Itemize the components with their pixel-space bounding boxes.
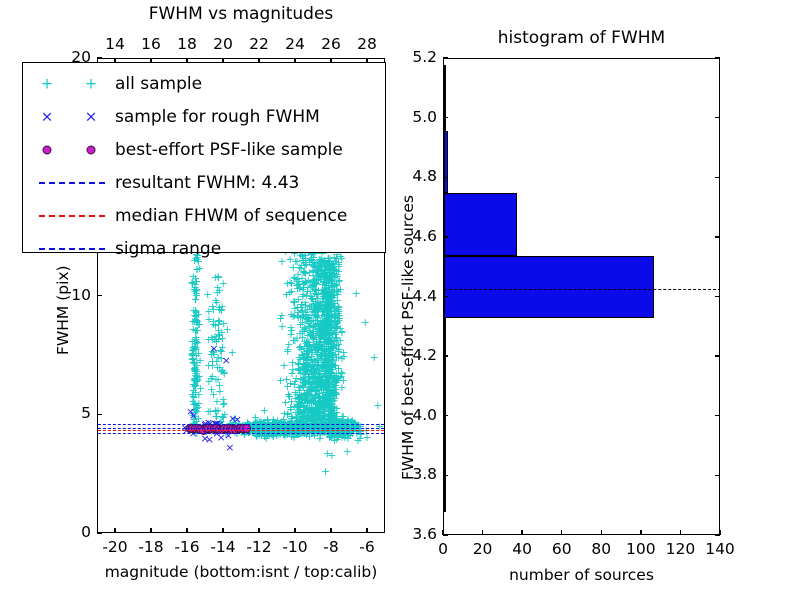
plus-icon: + bbox=[41, 76, 54, 91]
scatter-point-all-sample: + bbox=[286, 378, 295, 389]
histogram-resultant-fwhm-line bbox=[444, 289, 719, 290]
scatter-point-all-sample: + bbox=[215, 285, 224, 296]
scatter-point-all-sample: + bbox=[190, 336, 199, 347]
scatter-point-all-sample: + bbox=[320, 346, 329, 357]
y-tick-right bbox=[715, 475, 720, 476]
scatter-point-rough-sample: × bbox=[225, 442, 234, 453]
x-tick bbox=[601, 530, 602, 535]
x-tick bbox=[640, 530, 641, 535]
legend-marker-cell bbox=[29, 232, 115, 265]
x-tick-label: 120 bbox=[658, 540, 702, 558]
circle-marker-icon bbox=[87, 145, 96, 154]
y-tick-left bbox=[443, 57, 448, 58]
y-tick-right bbox=[715, 177, 720, 178]
y-tick-left bbox=[443, 534, 448, 535]
x-tick-label: 60 bbox=[540, 540, 584, 558]
histogram-plot-area bbox=[444, 59, 719, 534]
scatter-point-all-sample: + bbox=[328, 385, 337, 396]
scatter-point-all-sample: + bbox=[330, 301, 339, 312]
scatter-point-all-sample: + bbox=[189, 271, 198, 282]
scatter-point-all-sample: + bbox=[301, 277, 310, 288]
scatter-point-all-sample: + bbox=[214, 272, 223, 283]
legend-label: best-effort PSF-like sample bbox=[115, 140, 343, 160]
scatter-point-all-sample: + bbox=[373, 400, 382, 411]
cross-icon: × bbox=[41, 109, 54, 124]
legend-entry: resultant FWHM: 4.43 bbox=[29, 166, 385, 199]
y-tick-right bbox=[715, 296, 720, 297]
histogram-axes bbox=[443, 58, 720, 535]
x-tick-bottom bbox=[222, 528, 223, 533]
x-tick-label: 20 bbox=[461, 540, 505, 558]
y-tick bbox=[97, 532, 102, 533]
legend-label: sample for rough FWHM bbox=[115, 107, 320, 127]
x-tick-bottom bbox=[150, 528, 151, 533]
scatter-point-all-sample: + bbox=[343, 446, 352, 457]
scatter-point-all-sample: + bbox=[315, 433, 324, 444]
sigma-range-lower-line bbox=[98, 433, 384, 434]
x-tick bbox=[482, 530, 483, 535]
histogram-ylabel: FWHM of best-effort PSF-like sources bbox=[399, 195, 417, 480]
scatter-point-all-sample: + bbox=[260, 405, 269, 416]
legend-marker-cell bbox=[29, 133, 115, 166]
scatter-point-all-sample: + bbox=[330, 265, 339, 276]
y-tick-left bbox=[443, 415, 448, 416]
scatter-point-all-sample: + bbox=[215, 316, 224, 327]
legend-entry: median FHWM of sequence bbox=[29, 199, 385, 232]
scatter-point-all-sample: + bbox=[302, 359, 311, 370]
y-tick-right bbox=[715, 117, 720, 118]
scatter-point-all-sample: + bbox=[320, 286, 329, 297]
circle-marker-icon bbox=[43, 145, 52, 154]
y-tick-right bbox=[715, 355, 720, 356]
histogram-xlabel: number of sources bbox=[443, 566, 720, 584]
histogram-bar bbox=[444, 256, 654, 319]
y-tick-left bbox=[443, 355, 448, 356]
y-tick-label: 5.0 bbox=[391, 108, 437, 126]
scatter-point-rough-sample: × bbox=[222, 355, 231, 366]
y-tick-right bbox=[715, 236, 720, 237]
legend-marker-cell bbox=[29, 166, 115, 199]
dashdot-line-icon bbox=[39, 248, 105, 250]
legend-entry: ++all sample bbox=[29, 67, 385, 100]
scatter-point-all-sample: + bbox=[204, 314, 213, 325]
figure-canvas: FWHM vs magnitudes +++++++++++++++++++++… bbox=[0, 0, 800, 600]
x-tick-label-bottom: -6 bbox=[345, 538, 389, 556]
legend-marker-cell: ×× bbox=[29, 100, 115, 133]
x-tick-label: 140 bbox=[698, 540, 742, 558]
scatter-ylabel: FWHM (pix) bbox=[54, 265, 72, 355]
scatter-point-all-sample: + bbox=[332, 333, 341, 344]
scatter-point-all-sample: + bbox=[327, 450, 336, 461]
legend-entry: ××sample for rough FWHM bbox=[29, 100, 385, 133]
x-tick bbox=[521, 530, 522, 535]
cross-icon: × bbox=[85, 109, 98, 124]
histogram-bar bbox=[444, 447, 446, 513]
legend-marker-cell bbox=[29, 199, 115, 232]
y-tick-left bbox=[443, 296, 448, 297]
scatter-point-all-sample: + bbox=[276, 313, 285, 324]
x-tick-bottom bbox=[366, 528, 367, 533]
x-tick-bottom bbox=[294, 528, 295, 533]
scatter-point-all-sample: + bbox=[370, 352, 379, 363]
sigma-range-upper-line bbox=[98, 424, 384, 425]
y-tick-left bbox=[443, 475, 448, 476]
x-tick bbox=[680, 530, 681, 535]
scatter-point-all-sample: + bbox=[296, 302, 305, 313]
histogram-bar bbox=[444, 193, 517, 256]
right-panel-title: histogram of FWHM bbox=[443, 28, 720, 48]
plus-icon: + bbox=[85, 76, 98, 91]
histogram-bar bbox=[444, 65, 446, 131]
y-tick-right bbox=[715, 534, 720, 535]
legend-marker-cell: ++ bbox=[29, 67, 115, 100]
y-tick-left bbox=[443, 177, 448, 178]
scatter-point-all-sample: + bbox=[219, 394, 228, 405]
scatter-point-all-sample: + bbox=[251, 412, 260, 423]
y-tick-label: 4.8 bbox=[391, 167, 437, 185]
y-tick-label: 5.2 bbox=[391, 48, 437, 66]
x-tick-bottom bbox=[186, 528, 187, 533]
scatter-point-all-sample: + bbox=[190, 310, 199, 321]
y-tick-right bbox=[715, 415, 720, 416]
legend: ++all sample××sample for rough FWHMbest-… bbox=[22, 62, 386, 253]
x-tick-bottom bbox=[330, 528, 331, 533]
legend-label: median FHWM of sequence bbox=[115, 206, 347, 226]
scatter-point-all-sample: + bbox=[295, 396, 304, 407]
scatter-point-rough-sample: × bbox=[209, 343, 218, 354]
scatter-point-rough-sample: × bbox=[189, 410, 198, 421]
x-tick bbox=[561, 530, 562, 535]
dashed-line-icon bbox=[39, 182, 105, 184]
scatter-point-all-sample: + bbox=[212, 297, 221, 308]
scatter-point-all-sample: + bbox=[285, 277, 294, 288]
scatter-point-all-sample: + bbox=[331, 360, 340, 371]
y-tick-label: 5 bbox=[55, 404, 91, 422]
scatter-point-all-sample: + bbox=[302, 323, 311, 334]
scatter-point-all-sample: + bbox=[190, 381, 199, 392]
x-tick-bottom bbox=[114, 528, 115, 533]
dashed-line-icon bbox=[39, 215, 105, 217]
x-tick-label: 100 bbox=[619, 540, 663, 558]
legend-entry: sigma range bbox=[29, 232, 385, 265]
scatter-point-all-sample: + bbox=[314, 302, 323, 313]
scatter-point-all-sample: + bbox=[209, 389, 218, 400]
y-tick-left bbox=[443, 117, 448, 118]
histogram-bar bbox=[444, 318, 446, 384]
y-tick-left bbox=[443, 236, 448, 237]
y-tick bbox=[97, 57, 102, 58]
scatter-point-all-sample: + bbox=[353, 435, 362, 446]
x-tick-label: 80 bbox=[579, 540, 623, 558]
scatter-point-all-sample: + bbox=[279, 360, 288, 371]
y-tick-right bbox=[715, 57, 720, 58]
y-tick bbox=[97, 414, 102, 415]
legend-entry: best-effort PSF-like sample bbox=[29, 133, 385, 166]
scatter-point-all-sample: + bbox=[352, 288, 361, 299]
scatter-point-all-sample: + bbox=[323, 372, 332, 383]
left-panel-title: FWHM vs magnitudes bbox=[97, 4, 385, 24]
y-tick-label: 3.6 bbox=[391, 525, 437, 543]
median-fwhm-line bbox=[98, 430, 384, 431]
legend-label: all sample bbox=[115, 74, 202, 94]
legend-label: resultant FWHM: 4.43 bbox=[115, 173, 299, 193]
scatter-point-all-sample: + bbox=[321, 466, 330, 477]
histogram-bar bbox=[444, 131, 448, 194]
y-tick bbox=[97, 295, 102, 296]
scatter-point-all-sample: + bbox=[334, 286, 343, 297]
scatter-point-all-sample: + bbox=[361, 317, 370, 328]
y-tick-label: 0 bbox=[55, 523, 91, 541]
scatter-point-all-sample: + bbox=[286, 329, 295, 340]
legend-label: sigma range bbox=[115, 239, 221, 259]
scatter-xlabel: magnitude (bottom:isnt / top:calib) bbox=[97, 563, 385, 581]
x-tick-label: 40 bbox=[500, 540, 544, 558]
x-tick-label-top: 28 bbox=[345, 35, 389, 53]
x-tick-bottom bbox=[258, 528, 259, 533]
